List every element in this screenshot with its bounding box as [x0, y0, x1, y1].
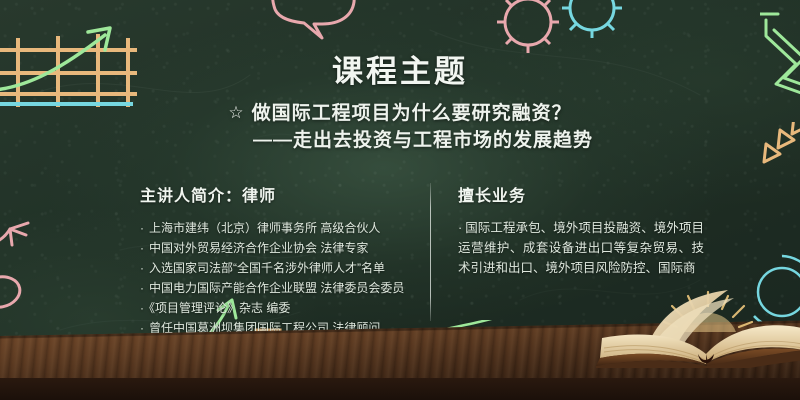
expertise-column: 擅长业务 国际工程承包、境外项目投融资、境外项目运营维护、成套设备进出口等复杂贸…	[458, 182, 704, 278]
open-book-illustration	[588, 288, 800, 368]
expertise-heading: 擅长业务	[458, 182, 704, 206]
star-outline-icon: ☆	[228, 103, 244, 122]
list-item: 入选国家司法部“全国千名涉外律师人才”名单	[140, 258, 420, 278]
desk-front-edge	[0, 378, 800, 400]
speaker-bio-list: 上海市建纬（北京）律师事务所 高级合伙人 中国对外贸易经济合作企业协会 法律专家…	[140, 218, 420, 338]
list-item: 《项目管理评论》杂志 编委	[140, 298, 420, 318]
subtitle-line-1: ☆做国际工程项目为什么要研究融资？	[0, 100, 800, 127]
expertise-body: 国际工程承包、境外项目投融资、境外项目运营维护、成套设备进出口等复杂贸易、技术引…	[458, 218, 704, 278]
subtitle-line-2: ——走出去投资与工程市场的发展趋势	[0, 127, 800, 155]
list-item: 中国电力国际产能合作企业联盟 法律委员会委员	[140, 278, 420, 298]
subtitle-line-1-text: 做国际工程项目为什么要研究融资？	[252, 103, 572, 124]
speaker-bio-column: 主讲人简介：律师 上海市建纬（北京）律师事务所 高级合伙人 中国对外贸易经济合作…	[140, 182, 420, 338]
column-divider	[430, 183, 431, 321]
list-item: 中国对外贸易经济合作企业协会 法律专家	[140, 238, 420, 258]
slide-canvas: 课程主题 ☆做国际工程项目为什么要研究融资？ ——走出去投资与工程市场的发展趋势…	[0, 0, 800, 400]
subtitle-block: ☆做国际工程项目为什么要研究融资？ ——走出去投资与工程市场的发展趋势	[0, 100, 800, 155]
speaker-bio-heading: 主讲人简介：律师	[140, 182, 420, 206]
list-item: 上海市建纬（北京）律师事务所 高级合伙人	[140, 218, 420, 238]
page-title: 课程主题	[0, 46, 800, 91]
